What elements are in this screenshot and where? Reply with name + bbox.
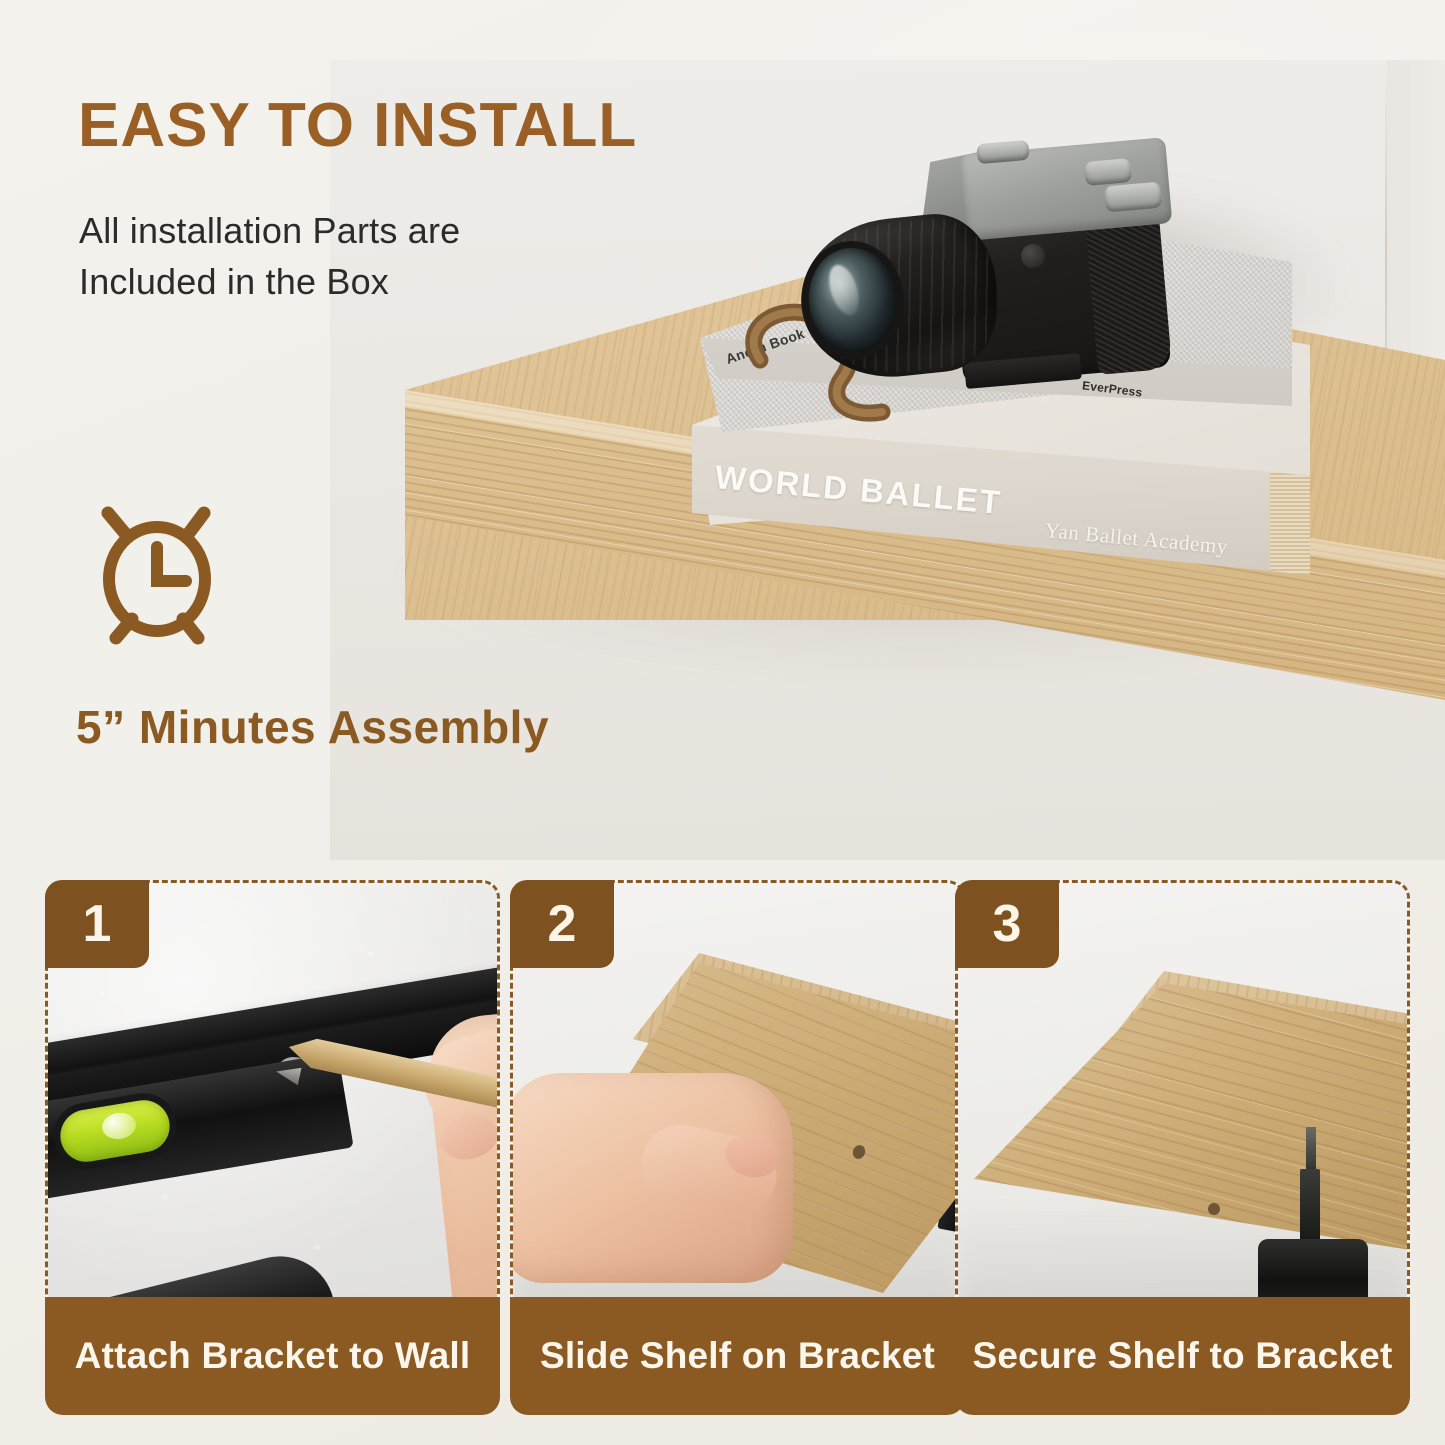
step-panel-1: 1 Attach Bracket to Wall (45, 880, 500, 1392)
step-caption-1: Attach Bracket to Wall (45, 1297, 500, 1415)
drill-bit (1300, 1169, 1320, 1245)
step-caption-2: Slide Shelf on Bracket (510, 1297, 965, 1415)
installation-steps: 1 Attach Bracket to Wall 2 Slide Shelf o… (0, 880, 1445, 1420)
page-title: EASY TO INSTALL (78, 95, 637, 157)
step-number-badge-2: 2 (510, 880, 614, 968)
subtitle-line-2: Included in the Box (79, 256, 460, 307)
step-panel-3: 15 20 3 Secure Shelf to Bracket (955, 880, 1410, 1392)
step-caption-3: Secure Shelf to Bracket (955, 1297, 1410, 1415)
subtitle-line-1: All installation Parts are (79, 205, 460, 256)
alarm-clock-icon (80, 495, 240, 655)
step-number-badge-1: 1 (45, 880, 149, 968)
mirrorless-camera (785, 132, 1205, 432)
product-infographic: WORLD BALLET Yan Ballet Academy Anoth Bo… (0, 0, 1445, 1445)
assembly-time-text: 5” Minutes Assembly (76, 700, 549, 754)
step-number-badge-3: 3 (955, 880, 1059, 968)
camera-lens-release-button (1021, 244, 1045, 268)
screw (1306, 1127, 1316, 1173)
step-panel-2: 2 Slide Shelf on Bracket (510, 880, 965, 1392)
camera-dial-right (1084, 158, 1132, 186)
page-subtitle: All installation Parts are Included in t… (79, 205, 460, 307)
shelf-screw-hole (1208, 1203, 1220, 1215)
camera-shutter-dial (1104, 182, 1162, 213)
